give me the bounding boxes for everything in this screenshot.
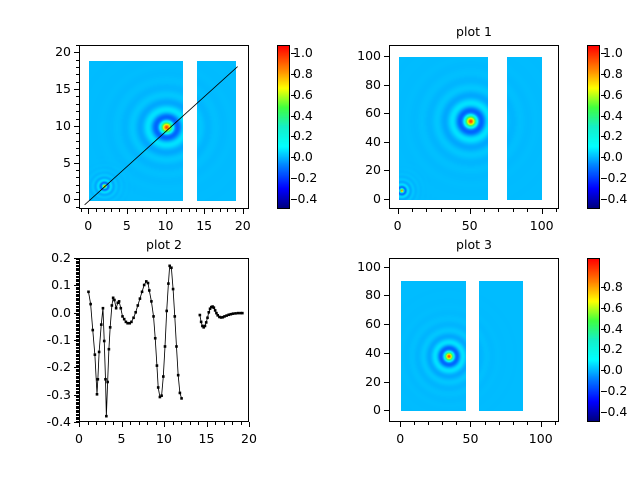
subplot-top-left-yminortick xyxy=(76,111,79,112)
subplot-top-right-colorbar-ticklabel: 0.2 xyxy=(603,128,623,143)
subplot-bottom-left-xminortick xyxy=(130,422,131,425)
subplot-top-left-yminortick xyxy=(76,141,79,142)
subplot-bottom-left-yminortick xyxy=(76,356,79,357)
subplot-top-right-ytick xyxy=(384,56,389,57)
subplot-top-right-xminortick xyxy=(426,209,427,212)
subplot-bottom-left-yminortick xyxy=(76,263,79,264)
subplot-bottom-left-yminortick xyxy=(76,389,79,390)
subplot-bottom-right-ytick xyxy=(384,267,389,268)
subplot-top-right-xticklabel: 0 xyxy=(373,218,423,233)
subplot-bottom-left-yminortick xyxy=(76,289,79,290)
subplot-bottom-left-yminortick xyxy=(76,337,79,338)
subplot-bottom-left-yminortick xyxy=(76,397,79,398)
subplot-top-right-xticklabel: 100 xyxy=(517,218,567,233)
subplot-bottom-right-axes xyxy=(389,258,559,422)
subplot-top-left-xtick xyxy=(243,209,244,214)
subplot-bottom-left-yminortick xyxy=(76,393,79,394)
subplot-bottom-left-xminortick xyxy=(113,422,114,425)
subplot-top-left-yminortick xyxy=(76,82,79,83)
subplot-top-left-colorbar-ticklabel: 0.0 xyxy=(293,149,313,164)
subplot-top-right-xminortick xyxy=(513,209,514,212)
subplot-top-right-colorbar-ticklabel: 0.6 xyxy=(603,87,623,102)
subplot-top-left-yticklabel: 20 xyxy=(21,44,71,59)
subplot-top-left-xminortick xyxy=(158,209,159,212)
subplot-bottom-right-image-right xyxy=(479,281,523,411)
subplot-bottom-right-yticklabel: 60 xyxy=(331,316,381,331)
subplot-bottom-left-yminortick xyxy=(76,307,79,308)
subplot-top-left-colorbar-ticklabel: 0.8 xyxy=(293,66,313,81)
subplot-top-right-xtick xyxy=(470,209,471,214)
subplot-bottom-left-yminortick xyxy=(76,339,79,340)
subplot-bottom-left-yminortick xyxy=(76,404,79,405)
subplot-top-left-yminortick xyxy=(76,60,79,61)
subplot-bottom-left-yminortick xyxy=(76,359,79,360)
subplot-bottom-left-yminortick xyxy=(76,333,79,334)
subplot-bottom-left-yminortick xyxy=(76,412,79,413)
subplot-top-left-xminortick xyxy=(135,209,136,212)
subplot-bottom-left-xtick xyxy=(207,422,208,427)
subplot-bottom-left-xminortick xyxy=(181,422,182,425)
subplot-top-left-xminortick xyxy=(196,209,197,212)
subplot-bottom-right-image-left-canvas xyxy=(401,281,466,411)
subplot-top-left-colorbar-ticklabel: 1.0 xyxy=(293,45,313,60)
subplot-top-right-xminortick xyxy=(441,209,442,212)
subplot-top-right-axes xyxy=(389,45,559,209)
subplot-bottom-left-yminortick xyxy=(76,281,79,282)
subplot-bottom-left-xminortick xyxy=(156,422,157,425)
subplot-top-right-image-right xyxy=(507,57,542,200)
subplot-top-right-colorbar-ticklabel: -0.2 xyxy=(603,170,627,185)
subplot-bottom-right-ytick xyxy=(384,410,389,411)
subplot-top-left-yminortick xyxy=(76,148,79,149)
subplot-top-left-colorbar-gradient xyxy=(278,46,289,208)
subplot-top-left-xminortick xyxy=(181,209,182,212)
subplot-top-right-xminortick xyxy=(412,209,413,212)
subplot-bottom-left-yticklabel: -0.3 xyxy=(21,387,71,402)
subplot-top-left-yminortick xyxy=(76,74,79,75)
subplot-top-left-image-right-canvas xyxy=(197,61,236,201)
subplot-top-right-xtick xyxy=(398,209,399,214)
subplot-top-left-xtick xyxy=(88,209,89,214)
subplot-bottom-left-yminortick xyxy=(76,300,79,301)
subplot-top-left-colorbar-ticklabel: 0.4 xyxy=(293,108,313,123)
subplot-bottom-right-ytick xyxy=(384,353,389,354)
subplot-top-left-image-left-canvas xyxy=(89,61,183,201)
subplot-top-left-xminortick xyxy=(173,209,174,212)
subplot-bottom-left-yticklabel: 0.1 xyxy=(21,277,71,292)
subplot-bottom-left-ytick xyxy=(74,285,79,286)
subplot-bottom-left-yminortick xyxy=(76,366,79,367)
subplot-bottom-left-xminortick xyxy=(224,422,225,425)
subplot-top-right-colorbar-ticklabel: -0.4 xyxy=(603,191,627,206)
subplot-bottom-right-colorbar-ticklabel: 0.0 xyxy=(603,362,623,377)
subplot-bottom-right-xtick xyxy=(470,422,471,427)
subplot-bottom-right-image-right-canvas xyxy=(479,281,523,411)
subplot-top-right-yticklabel: 20 xyxy=(331,162,381,177)
subplot-bottom-right-colorbar xyxy=(587,258,600,422)
subplot-top-right-xminortick xyxy=(484,209,485,212)
subplot-bottom-left-yminortick xyxy=(76,408,79,409)
subplot-top-left-yticklabel: 5 xyxy=(21,155,71,170)
subplot-bottom-left-axes xyxy=(79,258,249,422)
subplot-bottom-right-xticklabel: 100 xyxy=(516,431,566,446)
subplot-bottom-left-yminortick xyxy=(76,345,79,346)
subplot-top-left-yticklabel: 0 xyxy=(21,191,71,206)
subplot-bottom-right-colorbar-ticklabel: 0.6 xyxy=(603,300,623,315)
subplot-bottom-left-yticklabel: -0.4 xyxy=(21,414,71,429)
subplot-bottom-left-yminortick xyxy=(76,386,79,387)
subplot-bottom-left-yminortick xyxy=(76,284,79,285)
subplot-top-right-colorbar-ticklabel: 0.0 xyxy=(603,149,623,164)
subplot-top-right-title: plot 1 xyxy=(389,24,559,39)
subplot-bottom-left-xminortick xyxy=(147,422,148,425)
subplot-bottom-left-yminortick xyxy=(76,326,79,327)
subplot-bottom-left-xtick xyxy=(79,422,80,427)
subplot-top-left-xminortick xyxy=(220,209,221,212)
subplot-bottom-left-yminortick xyxy=(76,400,79,401)
subplot-bottom-left-xminortick xyxy=(96,422,97,425)
subplot-top-right-ytick xyxy=(384,113,389,114)
subplot-bottom-left-xminortick xyxy=(88,422,89,425)
subplot-bottom-left-yminortick xyxy=(76,304,79,305)
subplot-top-left-xminortick xyxy=(111,209,112,212)
subplot-top-right-xminortick xyxy=(455,209,456,212)
subplot-top-left-yminortick xyxy=(76,104,79,105)
subplot-top-right-colorbar-ticklabel: 1.0 xyxy=(603,45,623,60)
subplot-top-left-xtick xyxy=(166,209,167,214)
subplot-top-right-xminortick xyxy=(527,209,528,212)
subplot-bottom-left-yticklabel: 0.0 xyxy=(21,305,71,320)
subplot-top-right-xminortick xyxy=(498,209,499,212)
subplot-top-left-colorbar-ticklabel: 0.2 xyxy=(293,128,313,143)
subplot-top-left-yticklabel: 15 xyxy=(21,81,71,96)
subplot-bottom-left-xtick xyxy=(122,422,123,427)
subplot-bottom-left-yminortick xyxy=(76,296,79,297)
subplot-bottom-left-yminortick xyxy=(76,266,79,267)
subplot-top-right-ytick xyxy=(384,85,389,86)
subplot-bottom-right-colorbar-ticklabel: 0.4 xyxy=(603,321,623,336)
subplot-bottom-right-xminortick xyxy=(485,422,486,425)
subplot-bottom-right-yticklabel: 100 xyxy=(331,259,381,274)
subplot-top-right-image-right-canvas xyxy=(507,57,542,200)
subplot-bottom-right-xticklabel: 0 xyxy=(375,431,425,446)
subplot-bottom-left-yticklabel: -0.1 xyxy=(21,332,71,347)
subplot-top-left-xminortick xyxy=(81,209,82,212)
subplot-bottom-right-ytick xyxy=(384,382,389,383)
subplot-top-right-colorbar-gradient xyxy=(588,46,599,208)
subplot-bottom-left-xminortick xyxy=(190,422,191,425)
subplot-top-left-axes xyxy=(79,45,249,209)
subplot-top-left-colorbar-ticklabel: 0.6 xyxy=(293,87,313,102)
subplot-top-left-xminortick xyxy=(212,209,213,212)
subplot-top-left-yminortick xyxy=(76,192,79,193)
subplot-bottom-left-segment-2-markers xyxy=(199,305,244,328)
subplot-bottom-left-yminortick xyxy=(76,382,79,383)
subplot-bottom-right-colorbar-ticklabel: 0.8 xyxy=(603,279,623,294)
subplot-bottom-right-xminortick xyxy=(513,422,514,425)
subplot-bottom-right-xminortick xyxy=(499,422,500,425)
subplot-bottom-right-yticklabel: 20 xyxy=(331,374,381,389)
subplot-bottom-left-yminortick xyxy=(76,270,79,271)
subplot-bottom-right-colorbar-ticklabel: 0.2 xyxy=(603,341,623,356)
subplot-top-right-yticklabel: 0 xyxy=(331,191,381,206)
subplot-top-right-colorbar xyxy=(587,45,600,209)
subplot-bottom-left-xticklabel: 20 xyxy=(224,431,274,446)
subplot-bottom-left-xminortick xyxy=(198,422,199,425)
subplot-bottom-left-yminortick xyxy=(76,419,79,420)
subplot-top-left-colorbar-ticklabel: -0.2 xyxy=(293,170,317,185)
subplot-bottom-right-yticklabel: 40 xyxy=(331,345,381,360)
subplot-bottom-right-yticklabel: 80 xyxy=(331,287,381,302)
subplot-top-left-xminortick xyxy=(189,209,190,212)
subplot-top-right-yticklabel: 80 xyxy=(331,77,381,92)
subplot-bottom-right-xminortick xyxy=(414,422,415,425)
subplot-bottom-right-xminortick xyxy=(555,422,556,425)
subplot-top-right-ytick xyxy=(384,199,389,200)
subplot-top-left-ytick xyxy=(74,89,79,90)
subplot-bottom-left-yminortick xyxy=(76,330,79,331)
subplot-bottom-left-ytick xyxy=(74,367,79,368)
subplot-bottom-right-image-left xyxy=(401,281,466,411)
subplot-top-right-colorbar-ticklabel: 0.4 xyxy=(603,108,623,123)
subplot-bottom-left-yminortick xyxy=(76,311,79,312)
subplot-top-left-xticklabel: 20 xyxy=(218,218,268,233)
subplot-top-left-xminortick xyxy=(142,209,143,212)
subplot-top-right-yticklabel: 40 xyxy=(331,134,381,149)
subplot-bottom-right-title: plot 3 xyxy=(389,237,559,252)
subplot-top-left-ytick xyxy=(74,199,79,200)
subplot-top-left-image-right xyxy=(197,61,236,201)
subplot-top-left-xminortick xyxy=(235,209,236,212)
subplot-top-left-yminortick xyxy=(76,45,79,46)
subplot-bottom-left-yminortick xyxy=(76,315,79,316)
subplot-bottom-right-xticklabel: 50 xyxy=(445,431,495,446)
subplot-top-left-ytick xyxy=(74,52,79,53)
subplot-bottom-left-xminortick xyxy=(139,422,140,425)
subplot-bottom-left-yticklabel: 0.2 xyxy=(21,250,71,265)
subplot-bottom-left-yminortick xyxy=(76,292,79,293)
subplot-top-left-xminortick xyxy=(104,209,105,212)
subplot-top-left-yminortick xyxy=(76,155,79,156)
subplot-top-left-xtick xyxy=(127,209,128,214)
subplot-bottom-left-yminortick xyxy=(76,318,79,319)
subplot-bottom-left-yminortick xyxy=(76,274,79,275)
subplot-top-right-image-left xyxy=(399,57,488,200)
subplot-top-left-xminortick xyxy=(227,209,228,212)
figure-canvas: 05101520051015201.00.80.60.40.20.0-0.2-0… xyxy=(0,0,640,480)
subplot-top-left-yminortick xyxy=(76,96,79,97)
subplot-bottom-left-yminortick xyxy=(76,348,79,349)
subplot-top-left-xminortick xyxy=(150,209,151,212)
subplot-top-left-yminortick xyxy=(76,67,79,68)
subplot-top-left-colorbar-ticklabel: -0.4 xyxy=(293,191,317,206)
subplot-bottom-left-xminortick xyxy=(232,422,233,425)
subplot-bottom-left-yminortick xyxy=(76,374,79,375)
subplot-top-left-yticklabel: 10 xyxy=(21,118,71,133)
subplot-top-left-ytick xyxy=(74,163,79,164)
subplot-top-right-image-left-canvas xyxy=(399,57,488,200)
subplot-top-right-ytick xyxy=(384,142,389,143)
subplot-bottom-left-xminortick xyxy=(215,422,216,425)
subplot-top-right-xticklabel: 50 xyxy=(445,218,495,233)
subplot-top-left-yminortick xyxy=(76,119,79,120)
subplot-top-left-colorbar xyxy=(277,45,290,209)
subplot-bottom-left-xtick xyxy=(164,422,165,427)
subplot-bottom-left-yminortick xyxy=(76,378,79,379)
subplot-bottom-left-yminortick xyxy=(76,322,79,323)
subplot-bottom-left-title: plot 2 xyxy=(79,237,249,252)
subplot-bottom-right-xtick xyxy=(541,422,542,427)
subplot-bottom-right-xminortick xyxy=(442,422,443,425)
subplot-top-left-yminortick xyxy=(76,177,79,178)
subplot-bottom-left-plot-area xyxy=(80,259,249,422)
subplot-top-left-image-left xyxy=(89,61,183,201)
subplot-top-right-ytick xyxy=(384,170,389,171)
subplot-bottom-right-xminortick xyxy=(527,422,528,425)
subplot-bottom-right-ytick xyxy=(384,324,389,325)
subplot-bottom-right-colorbar-ticklabel: -0.4 xyxy=(603,404,627,419)
subplot-bottom-right-xminortick xyxy=(428,422,429,425)
subplot-bottom-left-xminortick xyxy=(173,422,174,425)
subplot-top-right-yticklabel: 100 xyxy=(331,48,381,63)
subplot-top-right-yticklabel: 60 xyxy=(331,105,381,120)
subplot-top-left-ytick xyxy=(74,126,79,127)
subplot-bottom-right-yticklabel: 0 xyxy=(331,402,381,417)
subplot-top-left-yminortick xyxy=(76,133,79,134)
subplot-bottom-left-yminortick xyxy=(76,352,79,353)
subplot-bottom-left-yticklabel: -0.2 xyxy=(21,359,71,374)
subplot-bottom-left-xminortick xyxy=(241,422,242,425)
subplot-bottom-left-yminortick xyxy=(76,363,79,364)
subplot-bottom-right-xtick xyxy=(400,422,401,427)
subplot-bottom-left-segment-1-path xyxy=(89,266,182,416)
subplot-top-left-xtick xyxy=(204,209,205,214)
subplot-bottom-left-yminortick xyxy=(76,259,79,260)
subplot-bottom-left-yminortick xyxy=(76,341,79,342)
subplot-top-left-xminortick xyxy=(119,209,120,212)
subplot-bottom-left-xtick xyxy=(249,422,250,427)
subplot-top-right-colorbar-ticklabel: 0.8 xyxy=(603,66,623,81)
subplot-bottom-right-colorbar-gradient xyxy=(588,259,599,421)
subplot-bottom-left-yminortick xyxy=(76,277,79,278)
subplot-top-left-xminortick xyxy=(96,209,97,212)
subplot-top-right-xtick xyxy=(542,209,543,214)
subplot-top-left-yminortick xyxy=(76,185,79,186)
subplot-bottom-right-ytick xyxy=(384,295,389,296)
subplot-top-right-xminortick xyxy=(556,209,557,212)
subplot-bottom-left-yminortick xyxy=(76,415,79,416)
subplot-top-left-yminortick xyxy=(76,170,79,171)
subplot-bottom-right-colorbar-ticklabel: -0.2 xyxy=(603,383,627,398)
subplot-bottom-right-xminortick xyxy=(456,422,457,425)
subplot-top-left-yminortick xyxy=(76,207,79,208)
subplot-bottom-left-yminortick xyxy=(76,371,79,372)
subplot-bottom-left-xminortick xyxy=(105,422,106,425)
